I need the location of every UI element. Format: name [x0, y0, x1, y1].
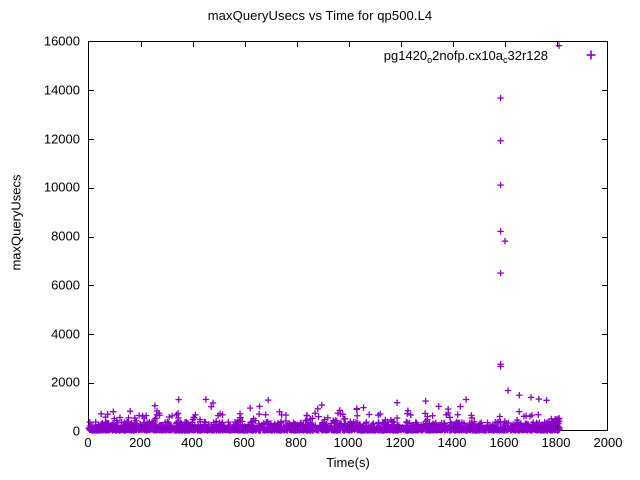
x-tickmark-1800	[557, 42, 558, 47]
x-tick-2000: 2000	[594, 435, 623, 450]
legend-marker-plus-icon	[574, 48, 608, 62]
x-tickmark-400	[193, 42, 194, 47]
plot-area	[88, 41, 608, 431]
x-tick-1800: 1800	[542, 435, 571, 450]
page-title: maxQueryUsecs vs Time for qp500.L4	[0, 8, 640, 23]
y-tickmark-10000	[89, 188, 94, 189]
chart-container: maxQueryUsecs vs Time for qp500.L4 02000…	[0, 0, 640, 480]
x-tickmark-200	[141, 425, 142, 430]
x-tick-0: 0	[84, 435, 91, 450]
legend-entry-label: pg1420o2nofp.cx10ac32r128	[384, 49, 548, 62]
x-tickmark-600	[245, 42, 246, 47]
y-tickmark-14000	[89, 90, 94, 91]
y-tick-14000: 14000	[44, 82, 80, 97]
legend: pg1420o2nofp.cx10ac32r128	[384, 48, 608, 62]
y-tick-0: 0	[73, 424, 80, 439]
x-tickmark-1000	[349, 425, 350, 430]
x-tick-1200: 1200	[386, 435, 415, 450]
x-tickmark-1200	[401, 425, 402, 430]
y-tickmark-4000	[89, 334, 94, 335]
x-tick-1400: 1400	[438, 435, 467, 450]
x-tick-1600: 1600	[490, 435, 519, 450]
y-tickmark-12000	[89, 139, 94, 140]
y-axis-label: maxQueryUsecs	[9, 153, 24, 293]
y-tick-12000: 12000	[44, 131, 80, 146]
x-tickmark-1200	[401, 42, 402, 47]
x-tick-1000: 1000	[334, 435, 363, 450]
x-tick-600: 600	[233, 435, 255, 450]
x-tickmark-600	[245, 425, 246, 430]
y-tickmark-2000	[89, 383, 94, 384]
x-tickmark-200	[141, 42, 142, 47]
y-tickmark-right-2000	[602, 383, 607, 384]
x-axis-tick-labels: 0200400600800100012001400160018002000	[88, 435, 608, 455]
x-tickmark-800	[297, 425, 298, 430]
y-tick-2000: 2000	[51, 375, 80, 390]
x-tickmark-800	[297, 42, 298, 47]
y-tick-16000: 16000	[44, 34, 80, 49]
x-tickmark-400	[193, 425, 194, 430]
y-tickmark-6000	[89, 285, 94, 286]
y-tickmark-right-14000	[602, 90, 607, 91]
x-axis-label: Time(s)	[88, 455, 608, 470]
y-tickmark-right-8000	[602, 237, 607, 238]
y-tickmark-8000	[89, 237, 94, 238]
x-tick-200: 200	[129, 435, 151, 450]
x-tick-800: 800	[285, 435, 307, 450]
scatter-points	[89, 42, 609, 432]
y-tick-4000: 4000	[51, 326, 80, 341]
y-tickmark-right-4000	[602, 334, 607, 335]
x-tickmark-1400	[453, 425, 454, 430]
y-tick-10000: 10000	[44, 180, 80, 195]
x-tickmark-1000	[349, 42, 350, 47]
y-tick-6000: 6000	[51, 277, 80, 292]
y-tickmark-right-10000	[602, 188, 607, 189]
y-tickmark-right-6000	[602, 285, 607, 286]
x-tickmark-1600	[505, 42, 506, 47]
y-tick-8000: 8000	[51, 229, 80, 244]
x-tickmark-1600	[505, 425, 506, 430]
x-tickmark-1400	[453, 42, 454, 47]
x-tickmark-1800	[557, 425, 558, 430]
y-tickmark-right-12000	[602, 139, 607, 140]
x-tick-400: 400	[181, 435, 203, 450]
